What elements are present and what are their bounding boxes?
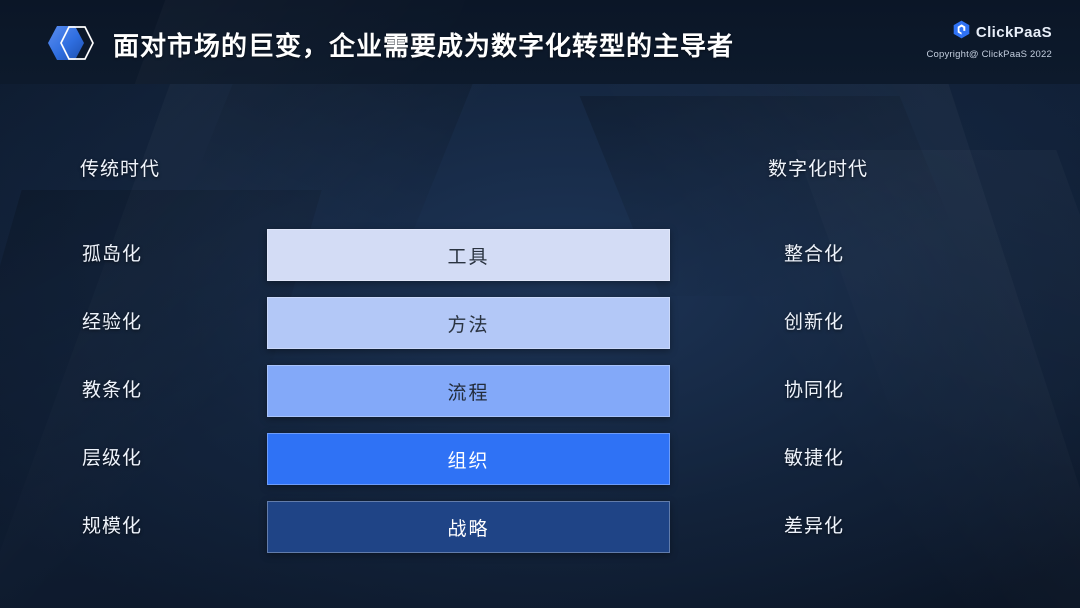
digital-label: 协同化 — [784, 365, 944, 417]
slide-header: 面对市场的巨变，企业需要成为数字化转型的主导者 ClickPaaS Copyri… — [0, 0, 1080, 84]
digital-label: 敏捷化 — [784, 433, 944, 485]
column-header-digital: 数字化时代 — [768, 154, 868, 181]
clickpaas-hexagon-icon — [953, 20, 970, 44]
brand-name: ClickPaaS — [976, 24, 1052, 41]
slide-root: 面对市场的巨变，企业需要成为数字化转型的主导者 ClickPaaS Copyri… — [0, 0, 1080, 608]
digital-label: 整合化 — [784, 229, 944, 281]
layer-bar[interactable]: 战略 — [267, 501, 670, 553]
traditional-label: 孤岛化 — [82, 229, 242, 281]
traditional-label: 规模化 — [82, 501, 242, 553]
layer-bar[interactable]: 组织 — [267, 433, 670, 485]
hexagon-logo-icon — [43, 22, 103, 66]
digital-label: 创新化 — [784, 297, 944, 349]
digital-label: 差异化 — [784, 501, 944, 553]
column-header-traditional: 传统时代 — [80, 154, 160, 181]
layer-bar[interactable]: 流程 — [267, 365, 670, 417]
brand-block: ClickPaaS Copyright@ ClickPaaS 2022 — [926, 20, 1052, 60]
traditional-label: 经验化 — [82, 297, 242, 349]
copyright-text: Copyright@ ClickPaaS 2022 — [926, 49, 1052, 60]
traditional-label: 层级化 — [82, 433, 242, 485]
traditional-label: 教条化 — [82, 365, 242, 417]
layer-bar[interactable]: 方法 — [267, 297, 670, 349]
layer-bar[interactable]: 工具 — [267, 229, 670, 281]
page-title: 面对市场的巨变，企业需要成为数字化转型的主导者 — [113, 26, 734, 63]
